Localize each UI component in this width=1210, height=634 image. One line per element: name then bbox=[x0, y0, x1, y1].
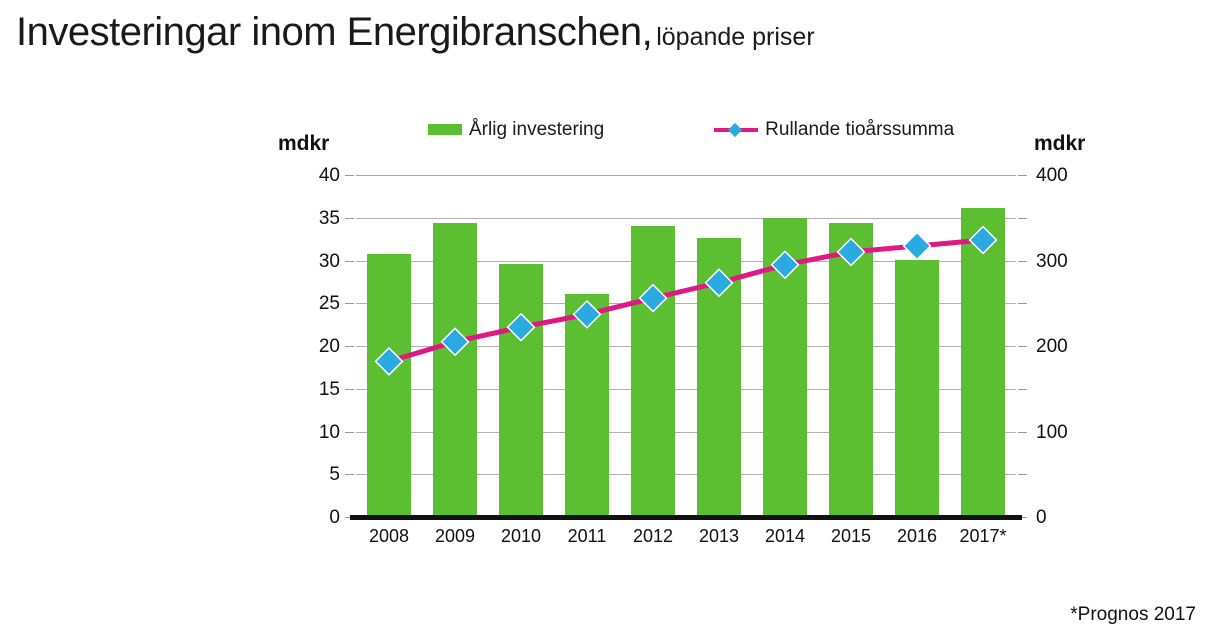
left-axis-tick-label: 25 bbox=[300, 294, 340, 313]
left-axis-tick-label: 15 bbox=[300, 380, 340, 399]
left-axis-tick-label: 35 bbox=[300, 209, 340, 228]
left-axis-tick bbox=[345, 474, 354, 475]
x-axis-tick-label: 2015 bbox=[818, 527, 884, 545]
title-main-text: Investeringar inom Energibranschen, bbox=[16, 10, 652, 54]
left-axis-unit-label: mdkr bbox=[278, 132, 329, 156]
right-axis-unit-label: mdkr bbox=[1034, 132, 1085, 156]
title-subtitle-text: löpande priser bbox=[656, 23, 814, 51]
line-marker[interactable]: 2016: 317 bbox=[904, 233, 931, 260]
page-title: Investeringar inom Energibranschen,löpan… bbox=[16, 10, 815, 55]
legend-item-label: Årlig investering bbox=[469, 120, 604, 139]
x-axis-tick-label: 2013 bbox=[686, 527, 752, 545]
left-axis-tick-label: 0 bbox=[300, 508, 340, 527]
right-axis-tick-label: 200 bbox=[1036, 337, 1068, 356]
x-axis-tick-label: 2012 bbox=[620, 527, 686, 545]
right-axis-tick-label: 0 bbox=[1036, 508, 1047, 527]
left-axis-tick bbox=[345, 175, 354, 176]
left-axis-tick bbox=[345, 218, 354, 219]
right-axis-tick bbox=[1018, 474, 1027, 475]
left-axis-tick bbox=[345, 303, 354, 304]
footnote-text: *Prognos 2017 bbox=[1070, 604, 1196, 626]
x-axis-tick-label: 2017* bbox=[950, 527, 1016, 545]
legend-bar-swatch-icon bbox=[428, 124, 462, 135]
left-axis-tick bbox=[345, 432, 354, 433]
left-axis-tick-label: 10 bbox=[300, 423, 340, 442]
line-marker[interactable]: 2015: 310 bbox=[838, 239, 865, 266]
legend-line-swatch-icon bbox=[714, 123, 758, 137]
left-axis-tick-label: 30 bbox=[300, 252, 340, 271]
left-axis-tick-label: 5 bbox=[300, 465, 340, 484]
x-axis-line bbox=[350, 515, 1022, 520]
left-axis-tick bbox=[345, 346, 354, 347]
legend-item-label: Rullande tioårssumma bbox=[765, 120, 954, 139]
line-marker[interactable]: 2008: 182 bbox=[376, 348, 403, 375]
line-marker[interactable]: 2014: 295 bbox=[772, 251, 799, 278]
right-axis-tick bbox=[1018, 432, 1027, 433]
right-axis-tick bbox=[1018, 175, 1027, 176]
line-marker[interactable]: 2011: 237 bbox=[574, 301, 601, 328]
right-axis-tick-label: 100 bbox=[1036, 423, 1068, 442]
legend-item-rullande-tioarssumma[interactable]: Rullande tioårssumma bbox=[714, 120, 954, 139]
left-axis-tick-label: 40 bbox=[300, 166, 340, 185]
right-axis-tick bbox=[1018, 389, 1027, 390]
right-axis-tick bbox=[1018, 261, 1027, 262]
right-axis-tick-label: 300 bbox=[1036, 252, 1068, 271]
right-axis-tick bbox=[1018, 218, 1027, 219]
right-axis-tick-label: 400 bbox=[1036, 166, 1068, 185]
right-axis-tick bbox=[1018, 303, 1027, 304]
line-marker[interactable]: 2017*: 324 bbox=[970, 227, 997, 254]
x-axis-tick-label: 2008 bbox=[356, 527, 422, 545]
left-axis-tick-label: 20 bbox=[300, 337, 340, 356]
line-series-rullande-tioarssumma: 2008: 1822009: 2052010: 2222011: 2372012… bbox=[356, 175, 1016, 517]
x-axis-tick-label: 2009 bbox=[422, 527, 488, 545]
right-axis-tick bbox=[1018, 346, 1027, 347]
x-axis-tick-label: 2014 bbox=[752, 527, 818, 545]
trend-line bbox=[389, 240, 983, 361]
left-axis-tick bbox=[345, 389, 354, 390]
x-axis-tick-label: 2011 bbox=[554, 527, 620, 545]
left-axis-tick bbox=[345, 261, 354, 262]
legend-item-arlig-investering[interactable]: Årlig investering bbox=[428, 120, 604, 139]
line-marker[interactable]: 2013: 274 bbox=[706, 269, 733, 296]
x-axis-tick-label: 2010 bbox=[488, 527, 554, 545]
line-marker[interactable]: 2012: 256 bbox=[640, 285, 667, 312]
x-axis-tick-label: 2016 bbox=[884, 527, 950, 545]
line-marker[interactable]: 2009: 205 bbox=[442, 328, 469, 355]
line-marker[interactable]: 2010: 222 bbox=[508, 314, 535, 341]
chart-legend: Årlig investering Rullande tioårssumma bbox=[428, 120, 954, 139]
